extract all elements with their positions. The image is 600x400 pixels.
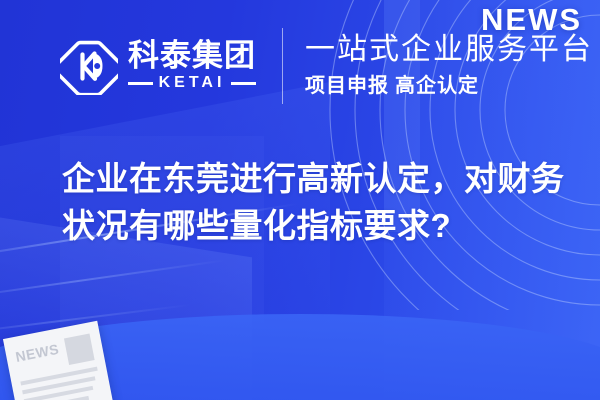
article-title-line-1: 企业在东莞进行高新认定，对财务 <box>62 156 567 203</box>
brand-name-en: KETAI <box>159 75 226 91</box>
banner-header: 科泰集团 KETAI 一站式企业服务平台 项目申报 高企认定 NEWS <box>0 0 600 131</box>
header-divider <box>282 28 283 104</box>
news-banner-poster: 科泰集团 KETAI 一站式企业服务平台 项目申报 高企认定 NEWS 企业在东… <box>0 0 600 400</box>
brand-name-en-row: KETAI <box>128 75 256 91</box>
wordmark-dash-left <box>128 82 153 85</box>
news-badge-label: NEWS <box>481 4 582 35</box>
newspaper-image-placeholder <box>64 334 95 365</box>
newspaper-masthead: NEWS <box>14 340 61 365</box>
wordmark-dash-right <box>231 82 256 85</box>
ketai-diamond-kd-logo-icon <box>60 37 118 95</box>
article-title: 企业在东莞进行高新认定，对财务 状况有哪些量化指标要求? <box>62 156 567 250</box>
slogan-main-text: 一站式企业服务平台 <box>305 32 593 69</box>
brand-name-cn: 科泰集团 <box>128 40 256 73</box>
article-title-line-2: 状况有哪些量化指标要求? <box>62 203 567 250</box>
brand-logo[interactable]: 科泰集团 KETAI <box>60 37 256 95</box>
slogan-sub-text: 项目申报 高企认定 <box>305 73 593 99</box>
brand-wordmark: 科泰集团 KETAI <box>128 40 256 92</box>
header-slogan: 一站式企业服务平台 项目申报 高企认定 <box>305 32 593 100</box>
